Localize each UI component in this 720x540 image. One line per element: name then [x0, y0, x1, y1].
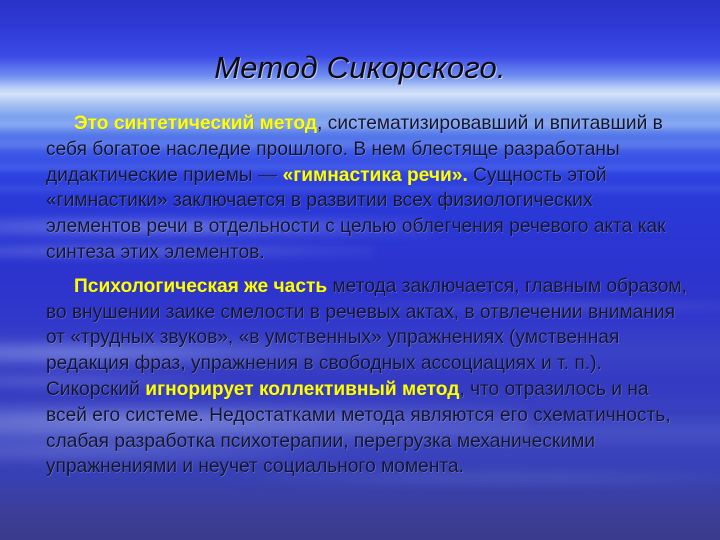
- highlighted-phrase: «гимнастика речи».: [283, 165, 468, 186]
- paragraph-1: Это синтетический метод, систематизирова…: [46, 111, 690, 266]
- slide-title: Метод Сикорского.: [0, 50, 720, 86]
- highlighted-phrase: Это синтетический метод: [74, 113, 317, 134]
- presentation-slide: Метод Сикорского. Это синтетический мето…: [0, 0, 720, 540]
- slide-body-text: Это синтетический метод, систематизирова…: [46, 111, 690, 482]
- highlighted-phrase: игнорирует коллективный метод: [145, 379, 459, 400]
- paragraph-2: Психологическая же часть метода заключае…: [46, 274, 690, 480]
- highlighted-phrase: Психологическая же часть: [74, 276, 327, 297]
